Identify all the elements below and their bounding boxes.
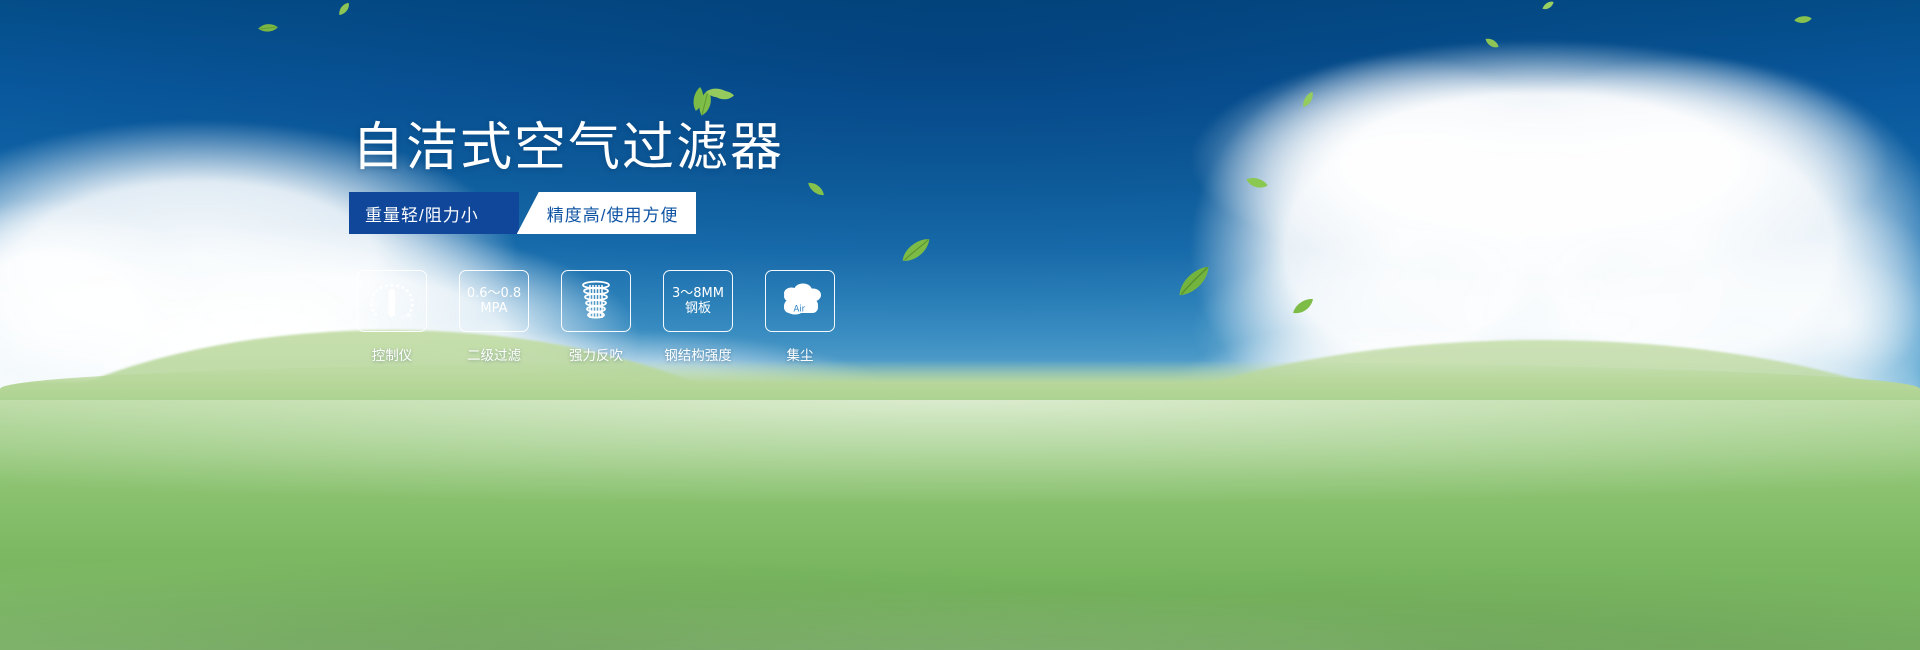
steel-plate-text-icon: 3～8MM 钢板 [672, 286, 724, 317]
feature-item-backblow[interactable]: 强力反吹 [560, 270, 632, 364]
pressure-text-icon: 0.6～0.8 MPA [467, 286, 521, 317]
feature-item-steel[interactable]: 3～8MM 钢板 钢结构强度 [662, 270, 734, 364]
feature-item-control[interactable]: NO OFF 控制仪 [356, 270, 428, 364]
hero-banner: 自洁式空气过滤器 重量轻/阻力小 精度高/使用方便 [0, 0, 1920, 650]
pressure-value: 0.6～0.8 [467, 286, 521, 301]
feature-icon-box: 0.6～0.8 MPA [459, 270, 529, 332]
pressure-unit: MPA [467, 301, 521, 316]
air-cloud-icon: Air [775, 280, 825, 322]
steel-thickness: 3～8MM [672, 286, 724, 301]
feature-item-filtration[interactable]: 0.6～0.8 MPA 二级过滤 [458, 270, 530, 364]
tab-lightweight-lowresistance[interactable]: 重量轻/阻力小 [349, 192, 519, 234]
gauge-off-label: OFF [401, 315, 412, 321]
filter-cartridge-icon [574, 278, 618, 324]
feature-tabs: 重量轻/阻力小 精度高/使用方便 [349, 192, 696, 234]
tab-label: 精度高/使用方便 [547, 201, 679, 226]
title-leaf-icon [704, 82, 730, 104]
tab-label: 重量轻/阻力小 [365, 201, 479, 226]
feature-icon-box: 3～8MM 钢板 [663, 270, 733, 332]
feature-label: 钢结构强度 [664, 344, 732, 364]
tab-precision-easyuse[interactable]: 精度高/使用方便 [517, 192, 697, 234]
air-label: Air [794, 305, 806, 315]
page-title: 自洁式空气过滤器 [352, 122, 784, 174]
gauge-on-label: NO [370, 302, 379, 308]
feature-icon-box: Air [765, 270, 835, 332]
feature-label: 二级过滤 [467, 344, 521, 364]
feature-label: 强力反吹 [569, 344, 623, 364]
feature-label: 控制仪 [372, 344, 413, 364]
feature-item-dust[interactable]: Air 集尘 [764, 270, 836, 364]
steel-material: 钢板 [672, 301, 724, 316]
feature-icon-box [561, 270, 631, 332]
feature-label: 集尘 [787, 344, 814, 364]
control-gauge-icon: NO OFF [368, 279, 416, 323]
feature-icon-box: NO OFF [357, 270, 427, 332]
feature-icon-list: NO OFF 控制仪 0.6～0.8 MPA 二级过滤 [356, 270, 836, 364]
